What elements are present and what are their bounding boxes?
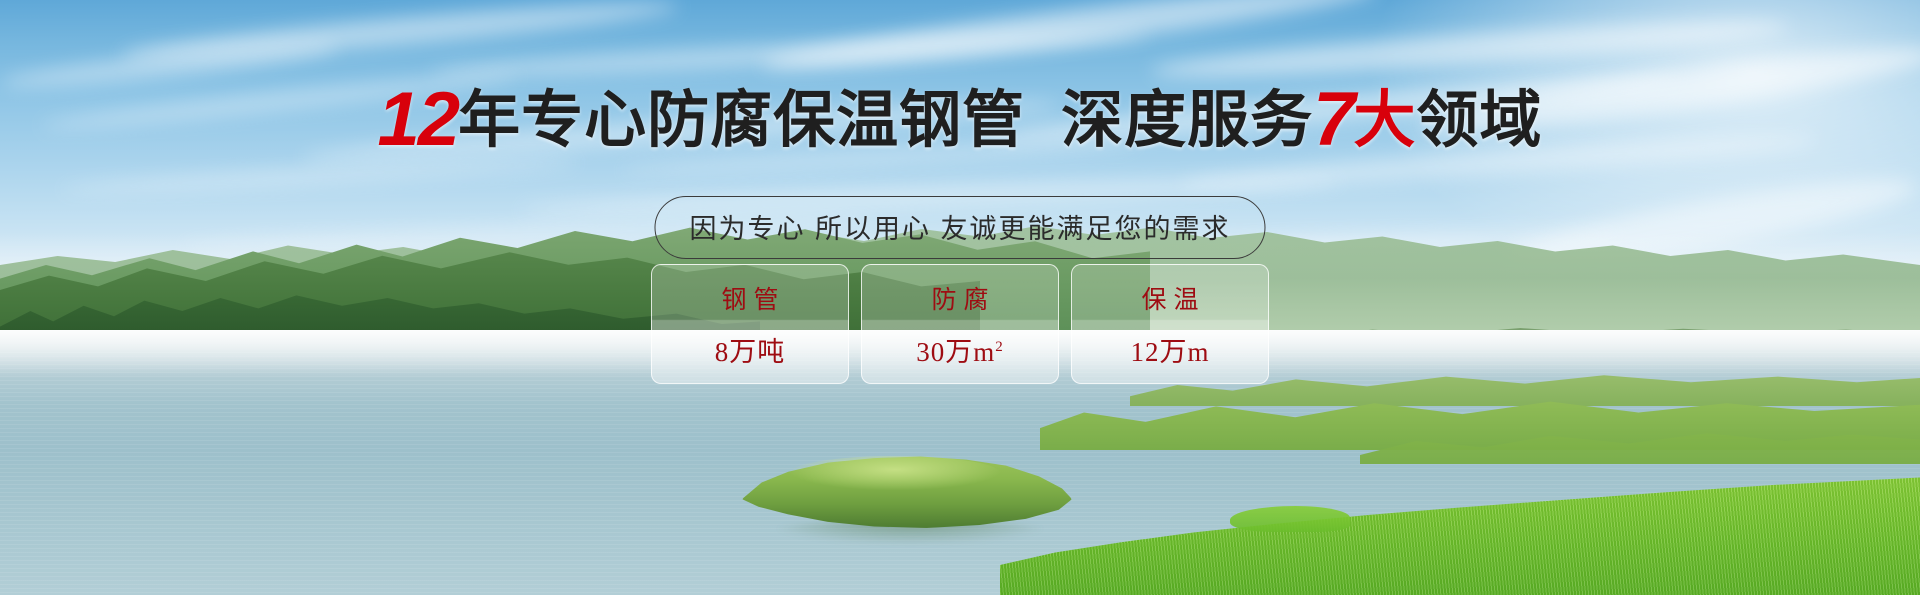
stat-card-value-text: 12万m	[1130, 337, 1209, 367]
stat-card-label: 防腐	[924, 280, 995, 316]
stat-card-value: 12万m	[1130, 330, 1209, 369]
stat-card-group: 钢管 8万吨 防腐 30万m2 保温 12万m	[651, 264, 1269, 384]
stat-card-value-text: 30万m	[916, 337, 995, 367]
stat-card-value: 30万m2	[916, 330, 1004, 369]
stat-card-label: 保温	[1134, 280, 1205, 316]
subtitle-text: 因为专心 所以用心 友诚更能满足您的需求	[689, 214, 1230, 244]
headline-text-tertiary: 领域	[1416, 86, 1542, 155]
stat-card-value: 8万吨	[715, 330, 786, 369]
headline-text-primary: 年专心防腐保温钢管	[458, 86, 1025, 155]
headline-text-secondary: 深度服务	[1061, 86, 1313, 155]
stat-card-steel-pipe[interactable]: 钢管 8万吨	[651, 264, 849, 384]
stat-card-value-sup: 2	[995, 339, 1004, 355]
island-highlight	[790, 456, 1000, 490]
stat-card-value-text: 8万吨	[715, 337, 786, 367]
subtitle-pill: 因为专心 所以用心 友诚更能满足您的需求	[654, 196, 1265, 259]
headline-fields-number: 7	[1313, 77, 1353, 162]
stat-card-anticorrosion[interactable]: 防腐 30万m2	[861, 264, 1059, 384]
hero-banner: 12年专心防腐保温钢管深度服务7大领域 因为专心 所以用心 友诚更能满足您的需求…	[0, 0, 1920, 595]
headline-highlight-word: 大	[1353, 86, 1416, 155]
stat-card-insulation[interactable]: 保温 12万m	[1071, 264, 1269, 384]
grass-tuft	[1230, 506, 1350, 532]
stat-card-label: 钢管	[714, 280, 785, 316]
banner-headline: 12年专心防腐保温钢管深度服务7大领域	[0, 82, 1920, 158]
headline-years-number: 12	[378, 77, 459, 162]
